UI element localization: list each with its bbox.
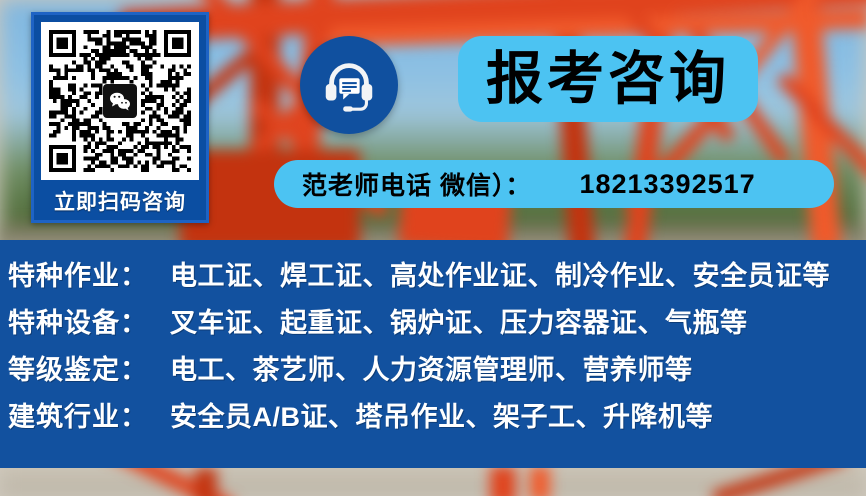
contact-phone-number[interactable]: 18213392517: [579, 169, 755, 200]
service-row: 等级鉴定： 电工、茶艺师、人力资源管理师、营养师等: [0, 348, 866, 395]
headset-chat-icon: [300, 36, 398, 134]
contact-label: 范老师电话 微信）：: [302, 166, 531, 202]
headline-text: 报考咨询: [486, 51, 730, 108]
service-category: 等级鉴定：: [8, 348, 160, 387]
headline-pill: 报考咨询: [458, 36, 758, 122]
service-row: 特种作业： 电工证、焊工证、高处作业证、制冷作业、安全员证等: [0, 254, 866, 301]
service-category: 特种设备：: [8, 301, 160, 340]
service-category: 建筑行业：: [8, 395, 160, 434]
service-items: 电工、茶艺师、人力资源管理师、营养师等: [170, 348, 693, 387]
service-list-panel: 特种作业： 电工证、焊工证、高处作业证、制冷作业、安全员证等 特种设备： 叉车证…: [0, 240, 866, 468]
service-items: 安全员A/B证、塔吊作业、架子工、升降机等: [170, 395, 713, 434]
service-category: 特种作业：: [8, 254, 160, 293]
service-row: 特种设备： 叉车证、起重证、锅炉证、压力容器证、气瓶等: [0, 301, 866, 348]
qr-caption: 立即扫码咨询: [34, 186, 206, 216]
qr-code-card[interactable]: 立即扫码咨询: [31, 12, 209, 223]
service-items: 叉车证、起重证、锅炉证、压力容器证、气瓶等: [170, 301, 748, 340]
service-row: 建筑行业： 安全员A/B证、塔吊作业、架子工、升降机等: [0, 395, 866, 442]
service-items: 电工证、焊工证、高处作业证、制冷作业、安全员证等: [170, 254, 830, 293]
qr-code-surface: [41, 22, 199, 180]
wechat-icon: [103, 84, 137, 118]
contact-pill[interactable]: 范老师电话 微信）： 18213392517: [274, 160, 834, 208]
promo-poster: 立即扫码咨询 报考咨询 范老师电话 微信）： 18213392517: [0, 0, 866, 496]
